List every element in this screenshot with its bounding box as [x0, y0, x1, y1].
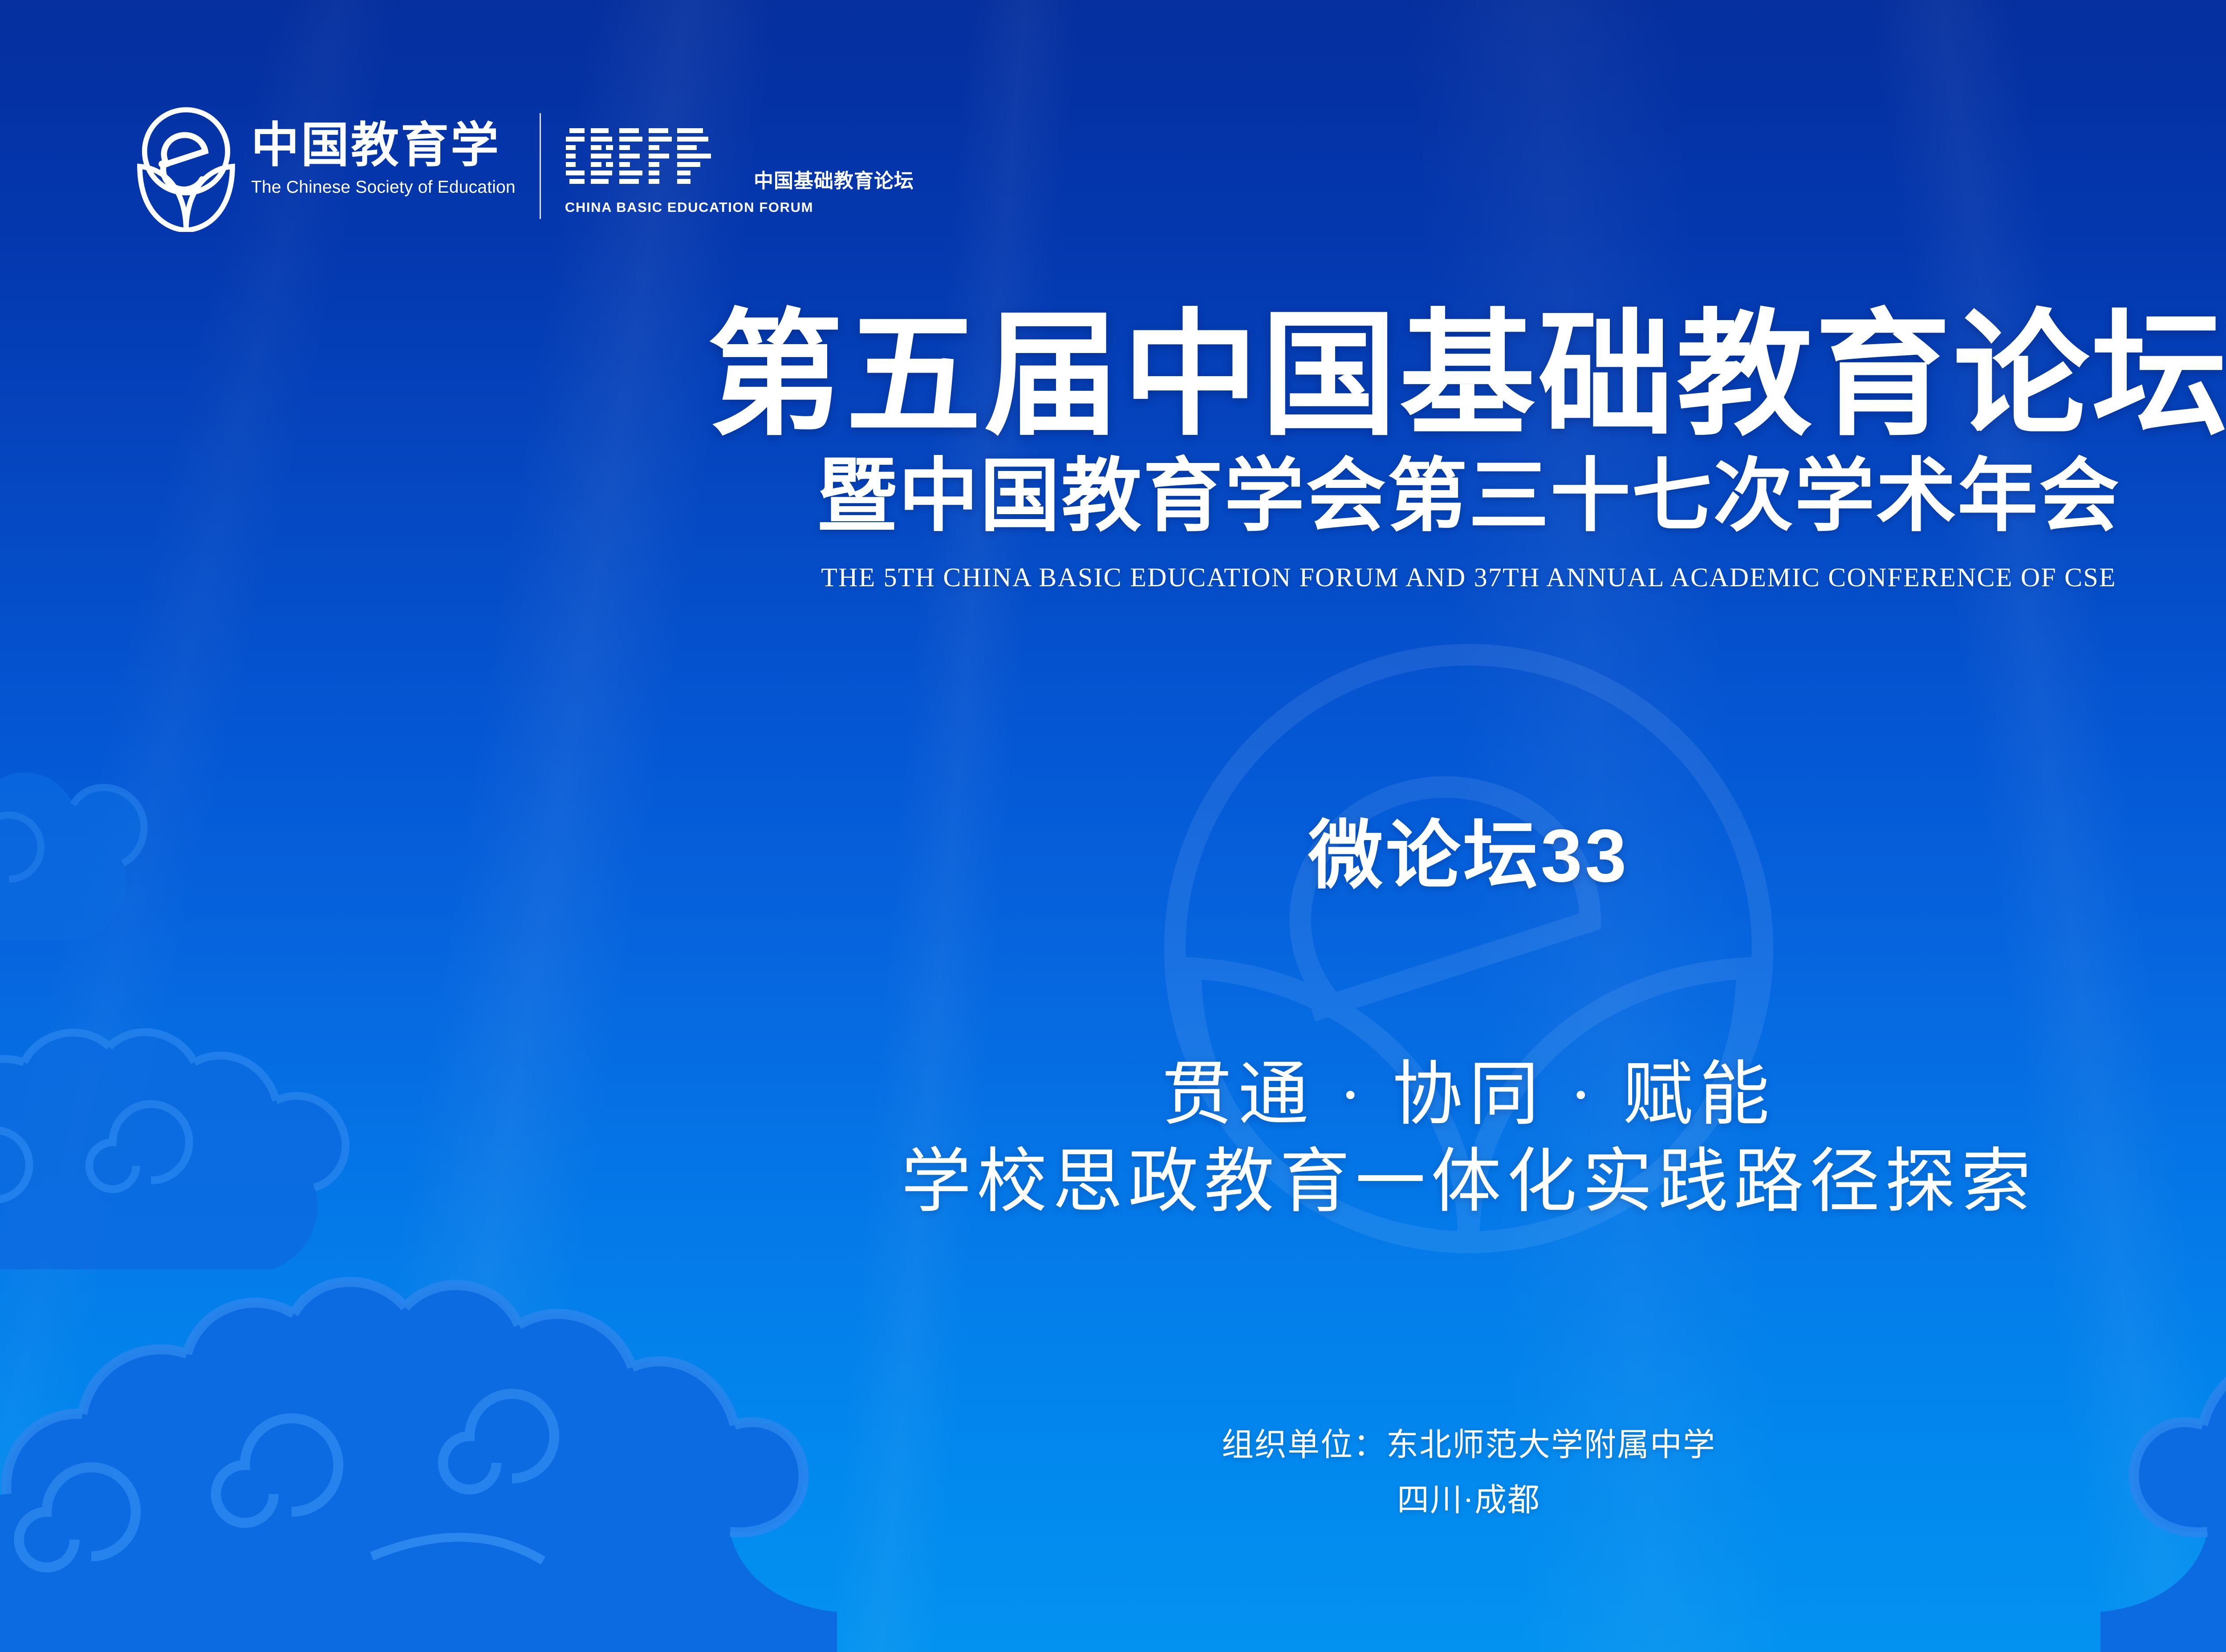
theme-keywords: 贯通 · 协同 · 赋能 — [0, 1055, 2226, 1135]
page-title: 第五届中国基础教育论坛 — [0, 307, 2226, 443]
svg-text:中国教育学会: 中国教育学会 — [251, 119, 500, 172]
page-subtitle: 暨中国教育学会第三十七次学术年会 — [0, 449, 2226, 544]
cbef-english-name: CHINA BASIC EDUCATION FORUM — [565, 199, 927, 215]
logo-lockup: 中国教育学会 The Chinese Society of Education — [134, 100, 927, 232]
theme-block: 贯通 · 协同 · 赋能 学校思政教育一体化实践路径探索 — [0, 1055, 2226, 1226]
svg-text:中国基础教育论坛: 中国基础教育论坛 — [754, 170, 914, 191]
cse-chinese-name-icon: 中国教育学会 — [251, 119, 516, 172]
cse-logo-text: 中国教育学会 The Chinese Society of Education — [251, 100, 516, 197]
cse-e-emblem-icon — [134, 100, 239, 232]
cbef-logo-row: 中国基础教育论坛 — [565, 125, 927, 191]
cse-english-name: The Chinese Society of Education — [251, 178, 516, 197]
forum-number-heading: 微论坛33 — [0, 815, 2226, 897]
cse-emblem-watermark-icon — [1077, 592, 1860, 1376]
headline-block: 第五届中国基础教育论坛 暨中国教育学会第三十七次学术年会 THE 5TH CHI… — [0, 307, 2226, 593]
cbef-logo: 中国基础教育论坛 CHINA BASIC EDUCATION FORUM — [565, 117, 927, 215]
organizer-line: 组织单位：东北师范大学附属中学 — [0, 1418, 2226, 1473]
page-title-english: THE 5TH CHINA BASIC EDUCATION FORUM AND … — [0, 561, 2226, 593]
cse-logo: 中国教育学会 The Chinese Society of Education — [134, 100, 516, 232]
cbef-chinese-name-icon: 中国基础教育论坛 — [754, 170, 927, 191]
theme-statement: 学校思政教育一体化实践路径探索 — [0, 1140, 2226, 1226]
poster-stage: 中国教育学会 The Chinese Society of Education — [0, 0, 2226, 1652]
location-line: 四川·成都 — [0, 1473, 2226, 1528]
cbef-striped-wordmark-icon — [565, 125, 739, 191]
vertical-divider-icon — [540, 113, 541, 219]
footer-block: 组织单位：东北师范大学附属中学 四川·成都 — [0, 1418, 2226, 1528]
